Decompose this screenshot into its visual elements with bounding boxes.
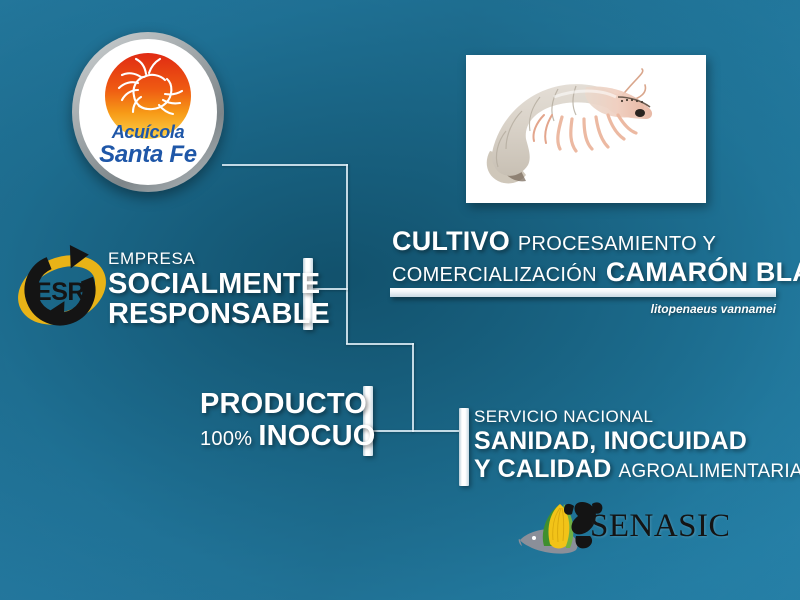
producto-percent: 100% <box>200 428 252 450</box>
shrimp-illustration <box>466 55 706 203</box>
senasica-line-1: SERVICIO NACIONAL <box>474 408 800 425</box>
connector-producto-branch <box>370 430 414 432</box>
cultivo-text-block: CULTIVOPROCESAMIENTO Y COMERCIALIZACIÓNC… <box>392 228 800 286</box>
senasica-logo: SENASICA <box>516 496 728 558</box>
senasica-text-block: SERVICIO NACIONAL SANIDAD, INOCUIDAD Y C… <box>474 408 800 482</box>
cultivo-word-bold: CULTIVO <box>392 226 510 256</box>
connector-badge-horizontal <box>222 164 348 166</box>
senasica-accent-bar <box>459 408 469 486</box>
cultivo-line-1: CULTIVOPROCESAMIENTO Y <box>392 228 800 255</box>
scientific-name: litopenaeus vannamei <box>390 302 776 316</box>
connector-main-spine <box>346 164 348 344</box>
esr-line-empresa: EMPRESA <box>108 250 330 267</box>
cultivo-underline-bar <box>390 288 776 297</box>
senasica-y-calidad: Y CALIDAD <box>474 455 611 483</box>
cultivo-word-comercializacion: COMERCIALIZACIÓN <box>392 264 597 286</box>
connector-lower-spine <box>412 343 414 431</box>
esr-text-block: EMPRESA SOCIALMENTE RESPONSABLE <box>108 250 330 329</box>
badge-word-line2: Santa Fe <box>79 143 217 167</box>
senasica-line-3: Y CALIDADAGROALIMENTARIA <box>474 457 800 482</box>
connector-senasica-branch <box>412 430 464 432</box>
producto-inocuo: INOCUO <box>258 420 375 452</box>
esr-logo-icon: ESR <box>16 244 108 336</box>
producto-text-block: PRODUCTO 100%INOCUO <box>200 390 360 451</box>
acuicola-santa-fe-badge: Acuícola Santa Fe <box>72 32 224 192</box>
cultivo-line-2: COMERCIALIZACIÓNCAMARÓN BLANCO <box>392 259 800 286</box>
connector-lower-horizontal <box>346 343 414 345</box>
badge-wordmark: Acuícola Santa Fe <box>79 123 217 167</box>
esr-logo-text: ESR <box>35 278 85 306</box>
cultivo-word-camaron-blanco: CAMARÓN BLANCO <box>606 257 800 287</box>
badge-inner-face: Acuícola Santa Fe <box>79 39 217 185</box>
senasica-wordmark: SENASICA <box>590 508 728 544</box>
senasica-line-2: SANIDAD, INOCUIDAD <box>474 429 800 454</box>
producto-line-2: 100%INOCUO <box>200 422 360 451</box>
senasica-logo-icon: SENASICA <box>516 496 728 558</box>
producto-line-1: PRODUCTO <box>200 390 360 419</box>
esr-line-socialmente: SOCIALMENTE <box>108 270 330 299</box>
esr-logo: ESR <box>16 244 108 336</box>
senasica-agroalimentaria: AGROALIMENTARIA <box>618 461 800 482</box>
esr-line-responsable: RESPONSABLE <box>108 300 330 329</box>
cultivo-word-light: PROCESAMIENTO Y <box>518 233 716 255</box>
shrimp-photo <box>466 55 706 203</box>
badge-word-line1: Acuícola <box>112 122 185 142</box>
